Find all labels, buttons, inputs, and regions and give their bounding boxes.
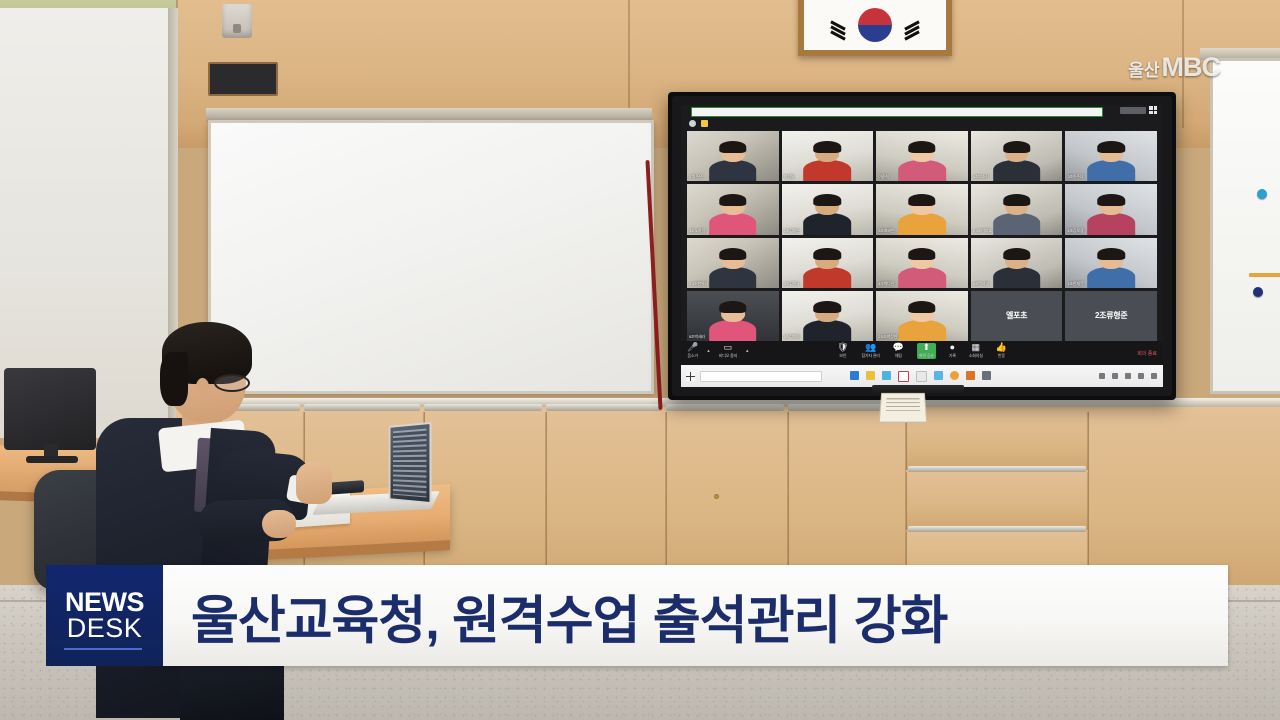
monitor-stand-base	[26, 456, 78, 463]
participant-hair	[719, 248, 746, 260]
settings-icon[interactable]	[689, 120, 696, 127]
share-label: 화면 공유	[919, 353, 934, 359]
news-headline: 울산교육청, 원격수업 출석관리 강화	[191, 578, 947, 653]
cabinet-door[interactable]	[788, 412, 906, 588]
cabinet-handle	[304, 404, 420, 411]
cabinet-door[interactable]	[666, 412, 788, 588]
projection-screen	[208, 120, 654, 394]
participant-name-label: 4조박다인	[878, 281, 894, 287]
mic-label: 음소거	[687, 353, 697, 359]
lock-icon[interactable]	[701, 120, 708, 127]
cabinet-door[interactable]	[1088, 412, 1280, 588]
participant-body	[709, 267, 757, 288]
cabinet-lock-icon	[714, 494, 719, 499]
ceiling-speaker	[222, 4, 252, 38]
participant-body	[898, 160, 946, 181]
participant-video	[876, 131, 968, 181]
magnet-strip	[1249, 273, 1280, 277]
taskbar-app-icon[interactable]	[866, 371, 875, 380]
record-label: 기록	[949, 353, 956, 359]
chat-button[interactable]: 💬 채팅	[893, 343, 904, 359]
participant-hair	[1003, 194, 1030, 206]
participant-hair	[719, 194, 746, 206]
wall-display: 2 박주은박성철이준희4조박소진3조이주나3조노하림2조김지은3조최혜은2 4조…	[672, 96, 1172, 396]
laptop-screen	[389, 422, 432, 504]
participant-hair	[814, 301, 841, 313]
os-taskbar	[681, 365, 1163, 387]
participant-name-label: 박성철	[784, 174, 794, 180]
person-hair-side	[160, 352, 188, 406]
participants-button[interactable]: 👥 참가자 관리	[861, 343, 879, 359]
mic-button[interactable]: 🎤 음소거	[687, 343, 698, 359]
volume-icon[interactable]	[1112, 373, 1118, 379]
mic-chevron-up-icon[interactable]: ▴	[707, 348, 710, 354]
participant-name-label: 2 4조이지호	[973, 228, 992, 234]
taskbar-app-icon[interactable]	[898, 371, 909, 382]
participant-tile[interactable]: 4조박다인	[876, 238, 968, 288]
participant-hair	[814, 141, 841, 153]
network-icon[interactable]	[1099, 373, 1105, 379]
participant-tile-no-video[interactable]: 엘포초	[971, 291, 1063, 341]
participant-tile[interactable]: 5조박서영	[971, 238, 1063, 288]
participant-tile[interactable]: 2 5조박정현	[876, 291, 968, 341]
shield-icon: 🛡	[837, 343, 848, 352]
participant-name-label: 3조최혜은	[878, 228, 894, 234]
security-label: 보안	[839, 353, 846, 359]
participant-hair	[908, 194, 935, 206]
korean-flag	[798, 0, 952, 56]
participant-hair	[814, 248, 841, 260]
participant-name-label: 1조한채윤	[1067, 281, 1083, 287]
taskbar-search-input[interactable]	[700, 371, 822, 382]
participant-tile[interactable]: 1조한채윤	[1065, 238, 1157, 288]
taskbar-system-tray	[1099, 373, 1157, 379]
battery-icon[interactable]	[1125, 373, 1131, 379]
magnet-icon	[1257, 189, 1267, 199]
participant-name-label: 2 5조박정현	[878, 334, 897, 340]
participant-hair	[908, 141, 935, 153]
participant-hair	[814, 194, 841, 206]
reaction-hand-icon: 👍	[996, 343, 1007, 352]
participant-body	[993, 267, 1041, 288]
person-right-hand	[296, 462, 332, 504]
breakout-rooms-button[interactable]: ▦ 소회의실	[969, 343, 983, 359]
program-logo: NEWS DESK	[46, 565, 163, 666]
participant-body	[804, 267, 852, 288]
cabinet-door[interactable]	[546, 412, 666, 588]
taskbar-app-icons	[850, 371, 991, 382]
participant-tile[interactable]: 3조이주나	[1065, 131, 1157, 181]
participant-video	[782, 131, 874, 181]
magnet-icon	[1253, 287, 1263, 297]
chat-label: 채팅	[895, 353, 902, 359]
participant-name-label: 5조박세라	[689, 334, 705, 340]
participant-hair	[1097, 194, 1124, 206]
participant-name-label: 4조박소진	[973, 174, 989, 180]
participant-tile[interactable]: 4조김보경	[1065, 184, 1157, 234]
fullscreen-label	[1120, 107, 1146, 114]
camera-icon: ▭	[724, 343, 733, 352]
participant-hair	[908, 248, 935, 260]
participant-tile[interactable]: 이준희	[876, 131, 968, 181]
participant-body	[993, 213, 1041, 234]
app-titlebar	[681, 105, 1163, 117]
meeting-toolbar: 🎤 음소거 ▴ ▭ 비디오 중지 ▴ 🛡 보안	[681, 341, 1163, 365]
participants-label: 참가자 관리	[861, 353, 879, 359]
participant-body	[804, 213, 852, 234]
drawer-rail	[908, 466, 1086, 472]
participant-tile[interactable]: 2 4조한유리	[687, 238, 779, 288]
cabinet-drawer[interactable]	[906, 412, 1088, 470]
breakout-label: 소회의실	[969, 353, 983, 359]
participant-body	[898, 320, 946, 341]
taskbar-app-icon[interactable]	[882, 371, 891, 380]
participant-body	[1087, 213, 1135, 234]
reactions-label: 반응	[998, 353, 1005, 359]
participant-hair	[1097, 248, 1124, 260]
video-button[interactable]: ▭ 비디오 중지	[719, 343, 737, 359]
chat-bubble-icon: 💬	[893, 343, 904, 352]
logo-underline	[64, 648, 142, 650]
app-status-icons	[689, 120, 708, 127]
participant-hair	[719, 301, 746, 313]
participant-body	[709, 213, 757, 234]
broadcast-frame: 2 박주은박성철이준희4조박소진3조이주나3조노하림2조김지은3조최혜은2 4조…	[0, 0, 1280, 720]
watermark-korean: 울산	[1128, 56, 1159, 81]
drawer-rail	[908, 526, 1086, 532]
video-chevron-up-icon[interactable]: ▴	[746, 348, 749, 354]
logo-desk-text: DESK	[67, 615, 143, 642]
participant-tile[interactable]: 5조김지아	[782, 291, 874, 341]
video-label: 비디오 중지	[719, 353, 737, 359]
participant-name-label: 3조김민규	[784, 281, 800, 287]
cabinet-handle	[666, 404, 784, 411]
participant-body	[993, 160, 1041, 181]
desktop-monitor	[4, 368, 96, 450]
person-left-hand	[262, 510, 296, 538]
participant-tile[interactable]: 3조최혜은	[876, 184, 968, 234]
participant-name-label: 2 4조한유리	[689, 281, 708, 287]
participant-tile[interactable]: 4조박소진	[971, 131, 1063, 181]
security-button[interactable]: 🛡 보안	[837, 343, 848, 359]
glasses-icon	[214, 374, 250, 392]
participant-hair	[908, 301, 935, 313]
participant-tile[interactable]: 2조김지은	[782, 184, 874, 234]
breakout-rooms-icon: ▦	[972, 343, 981, 352]
participant-name-label: 3조노하림	[689, 228, 705, 234]
participant-tile[interactable]: 박성철	[782, 131, 874, 181]
taskbar-app-icon[interactable]	[850, 371, 859, 380]
participant-display-name: 엘포초	[1006, 310, 1027, 321]
participant-display-name: 2조류형준	[1095, 310, 1127, 321]
participant-body	[709, 160, 757, 181]
taskbar-app-icon[interactable]	[966, 371, 975, 380]
taskbar-app-icon[interactable]	[934, 371, 943, 380]
participant-grid: 2 박주은박성철이준희4조박소진3조이주나3조노하림2조김지은3조최혜은2 4조…	[687, 131, 1157, 341]
taskbar-app-icon[interactable]	[916, 371, 927, 382]
wall-vent-panel	[208, 62, 278, 96]
participant-name-label: 5조김지아	[784, 334, 800, 340]
grid-view-icon[interactable]	[1149, 106, 1157, 114]
user-icon[interactable]	[1138, 373, 1144, 379]
video-conference-app: 2 박주은박성철이준희4조박소진3조이주나3조노하림2조김지은3조최혜은2 4조…	[681, 105, 1163, 387]
participant-name-label: 이준희	[878, 174, 888, 180]
participant-body	[804, 160, 852, 181]
participant-hair	[1097, 141, 1124, 153]
participant-name-label: 2조김지은	[784, 228, 800, 234]
cabinet-handle	[424, 404, 542, 411]
participant-tile[interactable]: 3조노하림	[687, 184, 779, 234]
share-screen-icon: ⬆	[923, 343, 931, 352]
participant-hair	[719, 141, 746, 153]
cabinet-drawer[interactable]	[906, 472, 1088, 530]
share-screen-button[interactable]: ⬆ 화면 공유	[917, 343, 936, 359]
whiteboard-right	[1210, 58, 1280, 394]
reactions-button[interactable]: 👍 반응	[996, 343, 1007, 359]
participant-body	[1087, 267, 1135, 288]
microphone-icon: 🎤	[687, 343, 698, 352]
participant-tile-no-video[interactable]: 2조류형준	[1065, 291, 1157, 341]
lower-third-banner: NEWS DESK 울산교육청, 원격수업 출석관리 강화	[46, 565, 1228, 666]
notifications-icon[interactable]	[1151, 373, 1157, 379]
participant-name-label: 3조이주나	[1067, 174, 1083, 180]
fullscreen-controls[interactable]	[1120, 106, 1157, 114]
participant-tile[interactable]: 2 박주은	[687, 131, 779, 181]
taeguk-circle	[858, 8, 892, 42]
participant-name-label: 4조김보경	[1067, 228, 1083, 234]
participant-body	[804, 320, 852, 341]
participant-body	[898, 213, 946, 234]
participant-tile[interactable]: 3조김민규	[782, 238, 874, 288]
record-button[interactable]: ● 기록	[949, 343, 956, 359]
participant-tile[interactable]: 2 4조이지호	[971, 184, 1063, 234]
participant-hair	[1003, 141, 1030, 153]
desk-certificate	[879, 393, 928, 423]
participant-body	[709, 320, 757, 341]
logo-news-text: NEWS	[65, 589, 144, 615]
end-meeting-button[interactable]: 회의 종료	[1137, 350, 1157, 357]
participant-tile[interactable]: 5조박세라	[687, 291, 779, 341]
taskbar-app-icon[interactable]	[982, 371, 991, 380]
toolbar-center-group: 🛡 보안 👥 참가자 관리 💬 채팅 ⬆ 화면 공유	[837, 343, 1007, 359]
toolbar-left-group: 🎤 음소거 ▴ ▭ 비디오 중지 ▴	[687, 343, 749, 359]
person-ear	[196, 378, 209, 396]
participant-hair	[1003, 248, 1030, 260]
participant-body	[1087, 160, 1135, 181]
taskbar-app-icon[interactable]	[950, 371, 959, 380]
watermark-mbc: MBC	[1162, 52, 1221, 83]
participant-name-label: 2 박주은	[689, 174, 702, 180]
participant-body	[898, 267, 946, 288]
people-icon: 👥	[865, 343, 876, 352]
start-button-icon[interactable]	[686, 372, 695, 381]
record-circle-icon: ●	[950, 343, 955, 352]
address-bar[interactable]	[691, 107, 1103, 117]
cabinet-handle	[546, 404, 662, 411]
station-watermark: 울산 MBC	[1128, 52, 1220, 83]
participant-name-label: 5조박서영	[973, 281, 989, 287]
